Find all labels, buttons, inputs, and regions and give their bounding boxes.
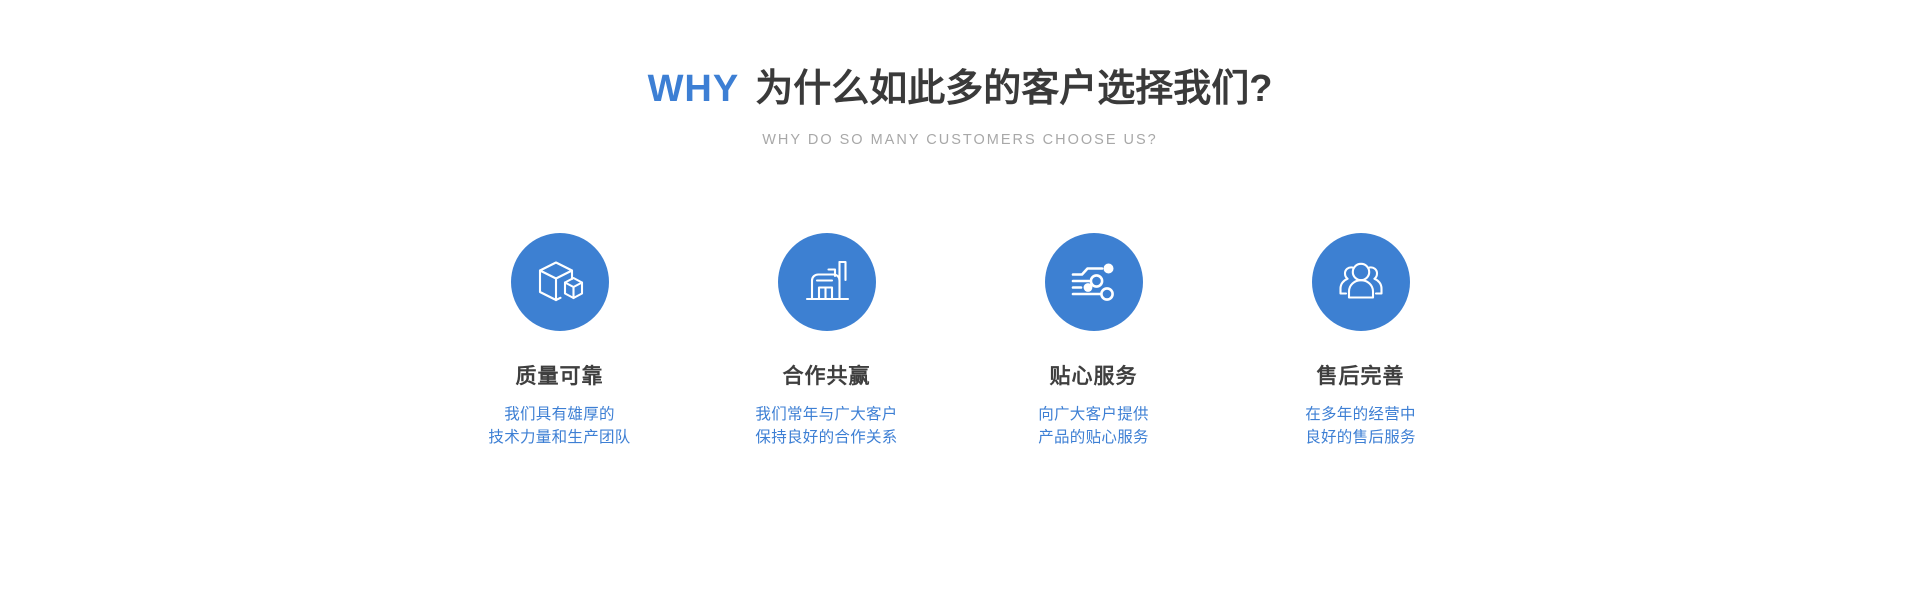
feature-item-quality[interactable]: 质量可靠 我们具有雄厚的 技术力量和生产团队	[426, 233, 693, 449]
circuit-nodes-icon	[1066, 254, 1122, 310]
feature-icon-circle	[1312, 233, 1410, 331]
feature-desc-line-2: 产品的贴心服务	[1038, 426, 1149, 449]
feature-list: 质量可靠 我们具有雄厚的 技术力量和生产团队	[0, 233, 1920, 449]
feature-item-cooperation[interactable]: 合作共赢 我们常年与广大客户 保持良好的合作关系	[693, 233, 960, 449]
feature-title: 贴心服务	[1050, 364, 1138, 389]
page-title: WHY为什么如此多的客户选择我们?	[0, 66, 1920, 114]
feature-icon-circle	[511, 233, 609, 331]
feature-title: 售后完善	[1317, 364, 1405, 389]
feature-icon-circle	[778, 233, 876, 331]
feature-desc-line-1: 在多年的经营中	[1305, 403, 1416, 426]
feature-desc-line-2: 良好的售后服务	[1305, 426, 1416, 449]
feature-description: 向广大客户提供 产品的贴心服务	[1038, 403, 1149, 449]
factory-icon	[799, 254, 855, 310]
feature-item-aftersales[interactable]: 售后完善 在多年的经营中 良好的售后服务	[1227, 233, 1494, 449]
title-main-text: 为什么如此多的客户选择我们?	[755, 68, 1272, 110]
feature-title: 质量可靠	[516, 364, 604, 389]
feature-description: 我们具有雄厚的 技术力量和生产团队	[488, 403, 630, 449]
feature-desc-line-2: 保持良好的合作关系	[755, 426, 897, 449]
feature-icon-circle	[1045, 233, 1143, 331]
why-choose-us-section: WHY为什么如此多的客户选择我们? WHY DO SO MANY CUSTOME…	[0, 0, 1920, 615]
page-subtitle: WHY DO SO MANY CUSTOMERS CHOOSE US?	[0, 132, 1920, 148]
feature-description: 在多年的经营中 良好的售后服务	[1305, 403, 1416, 449]
users-group-icon	[1333, 254, 1389, 310]
section-header: WHY为什么如此多的客户选择我们? WHY DO SO MANY CUSTOME…	[0, 0, 1920, 148]
feature-desc-line-1: 我们具有雄厚的	[488, 403, 630, 426]
feature-title: 合作共赢	[783, 364, 871, 389]
feature-desc-line-1: 向广大客户提供	[1038, 403, 1149, 426]
feature-description: 我们常年与广大客户 保持良好的合作关系	[755, 403, 897, 449]
feature-desc-line-2: 技术力量和生产团队	[488, 426, 630, 449]
package-box-icon	[532, 254, 588, 310]
title-accent-why: WHY	[648, 68, 740, 110]
feature-desc-line-1: 我们常年与广大客户	[755, 403, 897, 426]
feature-item-service[interactable]: 贴心服务 向广大客户提供 产品的贴心服务	[960, 233, 1227, 449]
